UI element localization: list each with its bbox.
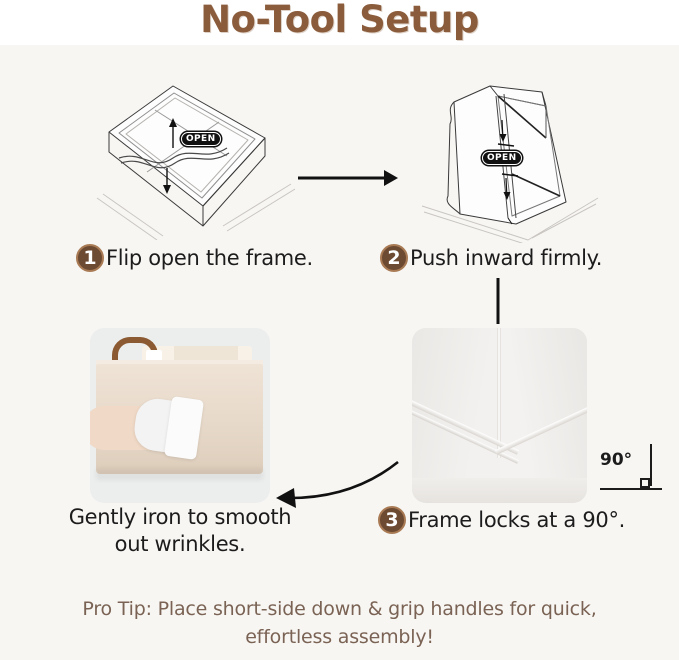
angle-vertical-line [650, 444, 652, 486]
step-1-caption-text: Flip open the frame. [106, 246, 313, 270]
step-4-caption-line2: out wrinkles. [60, 531, 300, 558]
corner-base [412, 478, 587, 503]
step-1-caption: 1 Flip open the frame. [76, 244, 313, 272]
pro-tip-line2: effortless assembly! [0, 624, 679, 652]
fabric-corner-photo [412, 328, 587, 503]
step-4-caption: Gently iron to smooth out wrinkles. [60, 504, 300, 559]
corner-vertical-seam [497, 328, 501, 458]
step-1-badge: 1 [76, 244, 104, 272]
angle-horizontal-line [600, 488, 662, 490]
basket-shadow [96, 468, 263, 480]
arrow-step1-to-step2-icon [298, 168, 398, 188]
curved-arrow-step3-to-step4-icon [272, 450, 402, 510]
step-4-illustration [90, 328, 270, 503]
step-3-caption-text: Frame locks at a 90°. [408, 508, 625, 532]
steamer-photo [90, 328, 270, 503]
open-tag-step1: OPEN [181, 132, 221, 146]
step-2-caption: 2 Push inward firmly. [380, 244, 602, 272]
step-2-badge: 2 [380, 244, 408, 272]
corner-left-panel [412, 328, 500, 503]
angle-90-label: 90° [600, 450, 632, 470]
line-step2-to-step3-icon [494, 278, 502, 324]
angle-90-icon: 90° [600, 444, 662, 490]
step-3-badge: 3 [378, 506, 406, 534]
pro-tip-line1: Pro Tip: Place short-side down & grip ha… [0, 596, 679, 624]
folded-frame-drawing [95, 80, 295, 240]
step-4-caption-line1: Gently iron to smooth [60, 504, 300, 531]
step-3-illustration [412, 328, 587, 503]
step-2-caption-text: Push inward firmly. [410, 246, 602, 270]
open-tag-step2: OPEN [482, 151, 522, 165]
angle-right-marker [640, 478, 650, 488]
step-3-caption: 3 Frame locks at a 90°. [378, 506, 625, 534]
page-title: No-Tool Setup [0, 0, 679, 41]
pro-tip: Pro Tip: Place short-side down & grip ha… [0, 596, 679, 651]
